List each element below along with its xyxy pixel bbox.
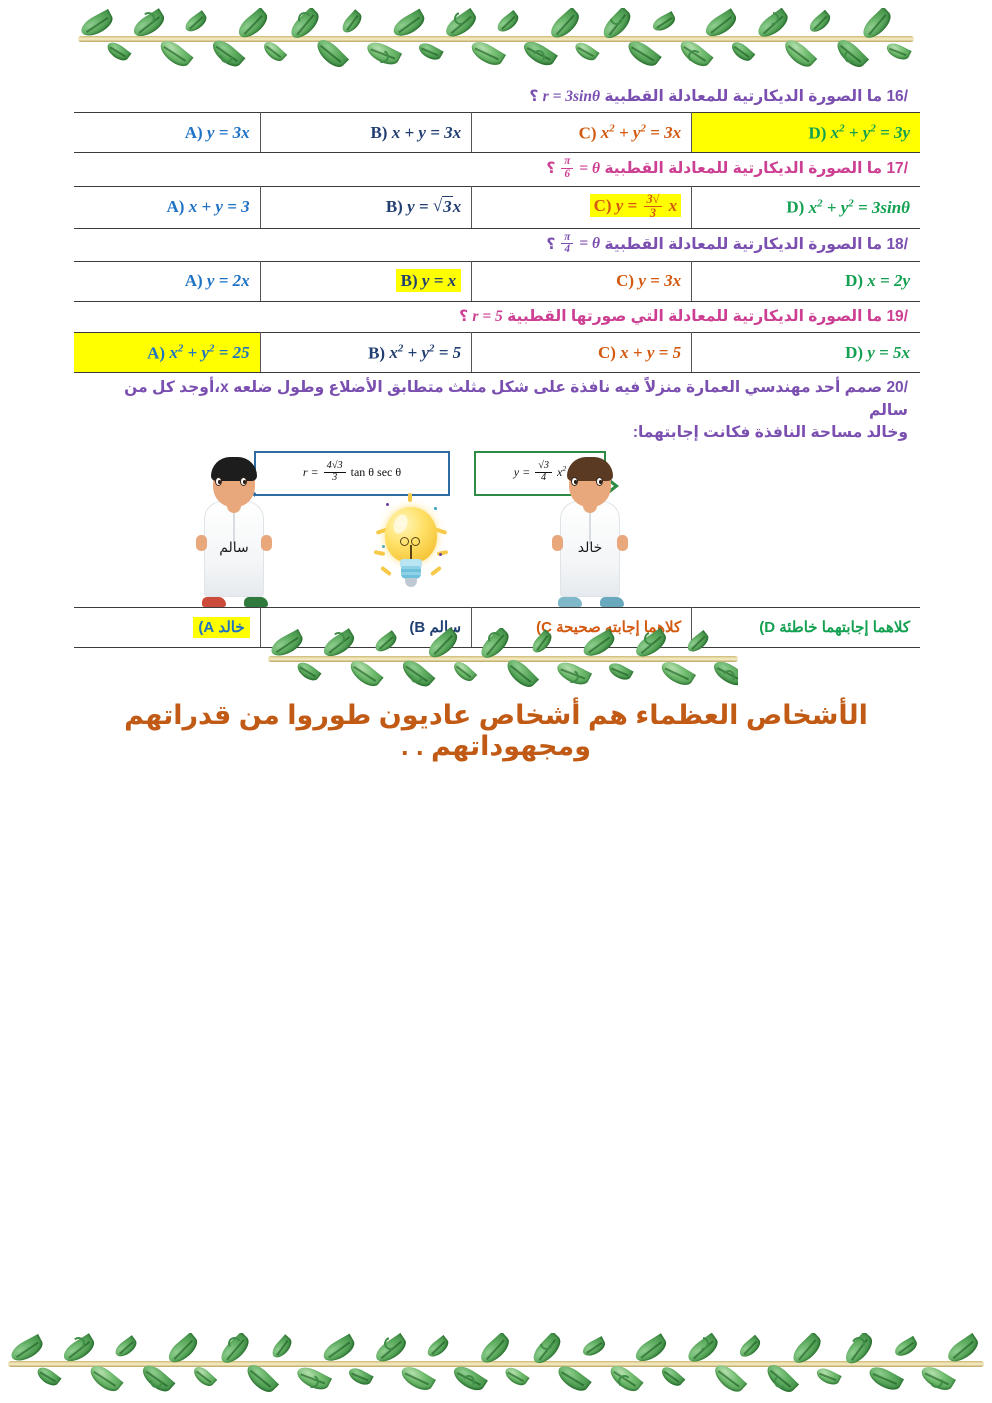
leaf-icon [313,35,349,70]
question-17-text: /17 ما الصورة الديكارتية للمعادلة القطبي… [74,153,920,185]
option-18-C-label: C) [616,271,634,290]
leaf-icon [676,36,713,70]
tendril-icon [531,49,546,64]
tendril-icon [618,1375,631,1388]
leaf-icon [261,39,287,65]
khalid-shoe-right [600,597,624,607]
vine-stem [268,656,738,662]
option-18-A-expr: y = 2x [207,271,250,290]
question-17-number: /17 [886,160,908,177]
tendril-icon [296,10,312,26]
leaf-icon [112,1335,139,1360]
option-17-A-expr: x + y = 3 [189,197,250,216]
leaf-icon [398,1362,436,1394]
option-18-D[interactable]: D) x = 2y [692,261,920,301]
question-16-body: ما الصورة الديكارتية للمعادلة القطبية [604,88,882,105]
question-16-number: /16 [886,88,908,105]
leaf-icon [918,1362,956,1394]
tendril-icon [142,12,156,26]
leaf-icon [105,39,132,64]
option-19-C-label: C) [598,343,616,362]
option-16-D-label: D) [808,123,826,142]
leaf-icon [217,1333,253,1367]
option-16-C[interactable]: C) x2 + y2 = 3x [472,113,692,153]
leaf-icon [659,1364,686,1390]
decorative-leaf-border-top [78,8,914,70]
leaf-icon [339,9,365,36]
tendril-icon [537,1334,555,1352]
leaf-icon [754,8,791,41]
leaf-icon [35,1364,62,1389]
option-16-B[interactable]: B) x + y = 3x [260,113,472,153]
option-16-A[interactable]: A) y = 3x [74,113,260,153]
bulb-sparkle [382,545,385,548]
option-19-A-label: A) [147,343,165,362]
leaf-icon [763,1360,799,1395]
question-18-body: ما الصورة الديكارتية للمعادلة القطبية [604,235,882,252]
option-18-A-label: A) [185,271,203,290]
tendril-icon [693,1334,711,1352]
leaf-icon [503,655,539,690]
leaf-icon [737,1335,764,1360]
leaf-icon [139,1361,176,1395]
option-17-B-label: B) [386,197,403,216]
leaf-icon [729,39,756,65]
bulb-base [401,566,421,579]
salem-answer-bubble: r = 4√33 tan θ sec θ [254,451,450,496]
leaf-icon [702,8,740,40]
leaf-icon [599,8,635,43]
option-20-D-label: D) [759,619,775,636]
character-khalid: خالد [542,457,638,607]
question-16-equation: r = 3sinθ [543,88,600,105]
leaf-icon [8,1334,46,1365]
option-16-B-expr: x + y = 3x [392,123,461,142]
tendril-icon [226,1335,242,1351]
option-16-C-label: C) [579,123,597,142]
leaf-icon [814,1365,841,1387]
tendril-icon [147,1372,165,1390]
leaf-icon [372,1333,410,1366]
leaf-icon [416,40,443,63]
question-18-text: /18 ما الصورة الديكارتية للمعادلة القطبي… [74,229,920,261]
salem-shoe-right [244,597,268,607]
leaf-icon [130,8,168,40]
leaf-icon [425,1335,452,1360]
leaf-icon [269,1334,295,1361]
tendril-icon [374,48,391,65]
option-20-A[interactable]: خالد A) [74,607,260,647]
tendril-icon [407,667,425,685]
option-18-D-label: D) [845,271,863,290]
option-17-C-label: C) [594,196,612,215]
leaf-icon [892,1336,919,1359]
bulb-sparkle [439,553,442,556]
option-19-D-expr: y = 5x [867,343,910,362]
option-18-A[interactable]: A) y = 2x [74,261,260,301]
option-18-C[interactable]: C) y = 3x [472,261,692,301]
leaf-icon [364,38,402,69]
leaf-icon [520,37,558,70]
question-20-options: كلاهما إجابتهما خاطئة D) كلاهما إجابته ص… [74,607,920,648]
leaf-icon [859,8,895,42]
option-19-C-expr: x + y = 5 [620,343,681,362]
leaf-icon [78,9,116,40]
lightbulb-icon [374,493,448,597]
tendril-icon [850,1335,867,1352]
leaf-icon [547,8,584,42]
leaf-icon [658,657,696,689]
salem-eye-right [240,477,247,486]
khalid-name-label: خالد [556,539,624,556]
leaf-icon [841,1333,876,1368]
salem-shoe-left [202,597,226,607]
option-19-B-label: B) [368,343,385,362]
tendril-icon [564,668,581,685]
leaf-icon [60,1333,98,1365]
bulb-tip [405,578,417,587]
leaf-icon [572,39,599,63]
option-19-D[interactable]: D) y = 5x [692,333,920,373]
leaf-icon [554,658,592,689]
bulb-sparkle [434,507,437,510]
questions-container: /16 ما الصورة الديكارتية للمعادلة القطبي… [74,82,920,648]
option-17-B[interactable]: B) y = √3x [260,186,472,228]
option-20-A-label: A) [198,619,214,636]
question-16-suffix: ؟ [529,88,538,105]
leaf-icon [944,1333,982,1366]
vine-stem [8,1361,984,1367]
leaf-icon [684,1333,721,1366]
option-20-B[interactable]: سالم B) [260,607,472,647]
leaf-icon [650,11,677,34]
tendril-icon [607,9,625,27]
option-17-A[interactable]: A) x + y = 3 [74,186,260,228]
leaf-icon [884,40,911,62]
bulb-ray [374,550,386,556]
salem-eye-left [215,477,222,486]
tendril-icon [461,1374,476,1389]
salem-name-label: سالم [200,539,268,556]
question-19-equation: r = 5 [472,308,502,325]
question-20-number: /20 [886,379,908,396]
leaf-icon [346,1365,373,1388]
leaf-icon [789,1333,825,1367]
leaf-icon [624,36,661,70]
option-19-C[interactable]: C) x + y = 5 [472,333,692,373]
question-20-line2: وخالد مساحة النافذة فكانت إجابتهما: [633,424,908,441]
leaf-icon [243,1360,279,1395]
option-20-C-label: C) [536,619,552,636]
option-19-B[interactable]: B) x2 + y2 = 5 [260,333,472,373]
option-17-D-label: D) [786,198,804,217]
decorative-leaf-border-bottom [8,1333,984,1395]
leaf-icon [235,8,272,42]
question-18-equation: θ = π4 [555,235,600,252]
question-18-options: D) x = 2y C) y = 3x B) y = x A) y = 2x [74,261,920,302]
tendril-icon [773,1374,789,1390]
leaf-icon [209,36,246,70]
option-19-D-label: D) [845,343,863,362]
bulb-ray [408,493,412,502]
tendril-icon [928,1373,945,1390]
option-18-B[interactable]: B) y = x [260,261,472,301]
leaf-icon [477,1333,514,1367]
tendril-icon [382,1335,400,1353]
question-19-text: /19 ما الصورة الديكارتية للمعادلة التي ص… [74,302,920,332]
leaf-icon [632,1333,670,1365]
leaf-icon [529,1333,565,1368]
question-17-body: ما الصورة الديكارتية للمعادلة القطبية [604,160,882,177]
leaf-icon [165,1333,202,1367]
question-18-number: /18 [886,235,908,252]
option-20-C[interactable]: كلاهما إجابته صحيحة C) [472,607,692,647]
option-20-A-text: خالد [218,619,244,636]
question-20-illustration: سالم r = 4√33 tan θ sec θ y = √34 x2 [74,445,920,607]
option-16-B-label: B) [370,123,387,142]
question-19-suffix: ؟ [459,308,468,325]
tendril-icon [763,9,781,27]
leaf-icon [182,10,209,35]
option-20-B-label: B) [409,619,425,636]
leaf-icon [781,36,817,70]
tendril-icon [72,1337,86,1351]
option-17-D[interactable]: D) x2 + y2 = 3sinθ [692,186,920,228]
option-18-B-label: B) [401,271,418,290]
leaf-icon [86,1361,123,1395]
leaf-icon [833,35,869,70]
question-17-equation: θ = π6 [555,160,600,177]
option-20-C-text: كلاهما إجابته صحيحة [556,619,681,636]
option-19-A[interactable]: A) x2 + y2 = 25 [74,333,260,373]
salem-formula: r = 4√33 tan θ sec θ [303,465,401,479]
leaf-icon [468,37,506,69]
worksheet-page: /16 ما الصورة الديكارتية للمعادلة القطبي… [0,0,992,1403]
option-20-D-text: كلاهما إجابتهما خاطئة [779,619,910,636]
leaf-icon [346,656,383,690]
motivational-quote: الأشخاص العظماء هم أشخاص عاديون طوروا من… [80,700,912,762]
option-18-D-expr: x = 2y [867,271,910,290]
tendril-icon [688,50,701,63]
khalid-eye-right [596,477,603,486]
question-20-text: /20 صمم أحد مهندسي العمارة منزلاً فيه نا… [74,373,920,444]
bulb-filament [400,537,422,555]
option-18-B-expr: y = x [422,271,456,290]
leaf-icon [495,10,522,35]
question-17-options: D) x2 + y2 = 3sinθ C) y = √33 x B) y = √… [74,186,920,229]
option-16-A-expr: y = 3x [207,123,250,142]
leaf-icon [450,1362,488,1395]
tendril-icon [217,47,235,65]
tendril-icon [452,10,470,28]
bulb-sparkle [386,503,389,506]
question-19-number: /19 [886,308,908,325]
tendril-icon [721,669,736,684]
tendril-icon [304,1373,321,1390]
leaf-icon [502,1364,529,1388]
leaf-icon [399,656,436,690]
leaf-icon [191,1364,217,1390]
leaf-icon [807,10,834,35]
question-19-body: ما الصورة الديكارتية للمعادلة التي صورته… [507,308,882,325]
leaf-icon [866,1363,904,1394]
bulb-ray [430,566,442,577]
leaf-icon [442,8,480,41]
leaf-icon [554,1361,591,1395]
option-16-D[interactable]: D) x2 + y2 = 3y [692,113,920,153]
leaf-icon [295,659,322,684]
question-20-line1: صمم أحد مهندسي العمارة منزلاً فيه نافذة … [124,379,908,418]
khalid-shoe-left [558,597,582,607]
leaf-icon [294,1363,332,1394]
option-16-A-label: A) [185,123,203,142]
leaf-icon [287,8,323,42]
leaf-icon [156,36,193,70]
question-19-options: D) y = 5x C) x + y = 5 B) x2 + y2 = 5 A)… [74,332,920,373]
option-18-C-expr: y = 3x [638,271,681,290]
khalid-eye-left [571,477,578,486]
option-20-D[interactable]: كلاهما إجابتهما خاطئة D) [692,607,920,647]
question-16-text: /16 ما الصورة الديكارتية للمعادلة القطبي… [74,82,920,112]
leaf-icon [451,659,477,685]
leaf-icon [711,1361,747,1395]
leaf-icon [390,9,428,41]
tendril-icon [843,49,859,65]
option-20-B-text: سالم [429,619,461,636]
option-17-A-label: A) [167,197,185,216]
option-17-C[interactable]: C) y = √33 x [472,186,692,228]
leaf-icon [606,1361,643,1395]
vine-stem [78,36,914,42]
question-16-options: D) x2 + y2 = 3y C) x2 + y2 = 3x B) x + y… [74,112,920,153]
leaf-icon [580,1336,607,1359]
leaf-icon [320,1334,358,1366]
bulb-ray [380,566,392,577]
leaf-icon [710,657,738,690]
leaf-icon [606,660,633,683]
